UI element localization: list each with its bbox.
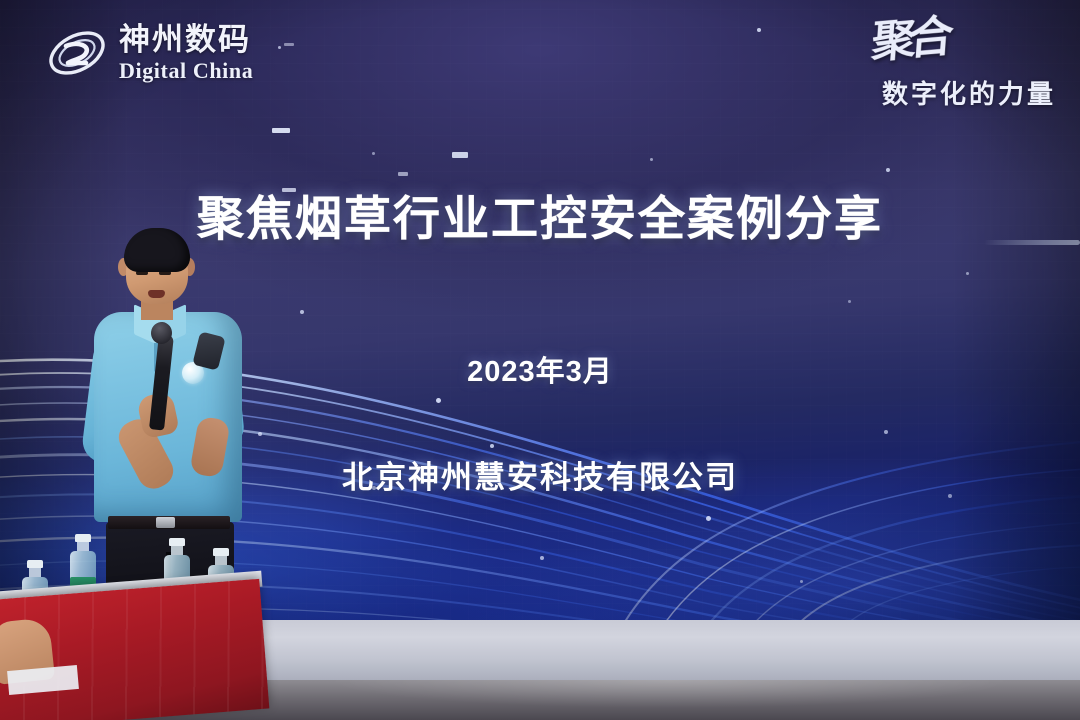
presenter-belt-buckle [156, 517, 175, 528]
light-particle [757, 28, 761, 32]
light-particle [886, 168, 890, 172]
light-particle [650, 158, 653, 161]
presenter-hair [124, 228, 190, 272]
light-particle [966, 272, 969, 275]
bottle-neck [77, 542, 89, 551]
juhe-tagline: 数字化的力量 [882, 74, 1056, 111]
digital-china-swirl-icon [46, 22, 108, 84]
light-particle [300, 310, 304, 314]
bottle-cap [169, 538, 185, 546]
light-particle-dash [452, 152, 468, 158]
light-particle-dash [284, 43, 294, 46]
light-particle-dash [272, 128, 290, 133]
digital-china-logo: 神州数码 Digital China [46, 22, 253, 84]
bottle-neck [29, 568, 41, 577]
bottle-cap [75, 534, 91, 542]
digital-china-english-name: Digital China [119, 60, 253, 82]
bottle-neck [171, 546, 183, 555]
bottle-neck [215, 556, 227, 565]
light-particle [278, 46, 281, 49]
digital-china-chinese-name: 神州数码 [119, 24, 253, 55]
light-particle-dash [398, 172, 408, 176]
bottle-cap [27, 560, 43, 568]
light-particle [848, 300, 851, 303]
juhe-calligraphy-text: 聚合 [870, 15, 948, 65]
light-particle [372, 152, 375, 155]
presenter-mouth [148, 290, 165, 298]
juhe-event-logo: 聚合 数字化的力量 [808, 18, 1058, 114]
conference-stage-photo: 神州数码 Digital China 聚合 数字化的力量 聚焦烟草行业工控安全案… [0, 0, 1080, 720]
bottle-cap [213, 548, 229, 556]
